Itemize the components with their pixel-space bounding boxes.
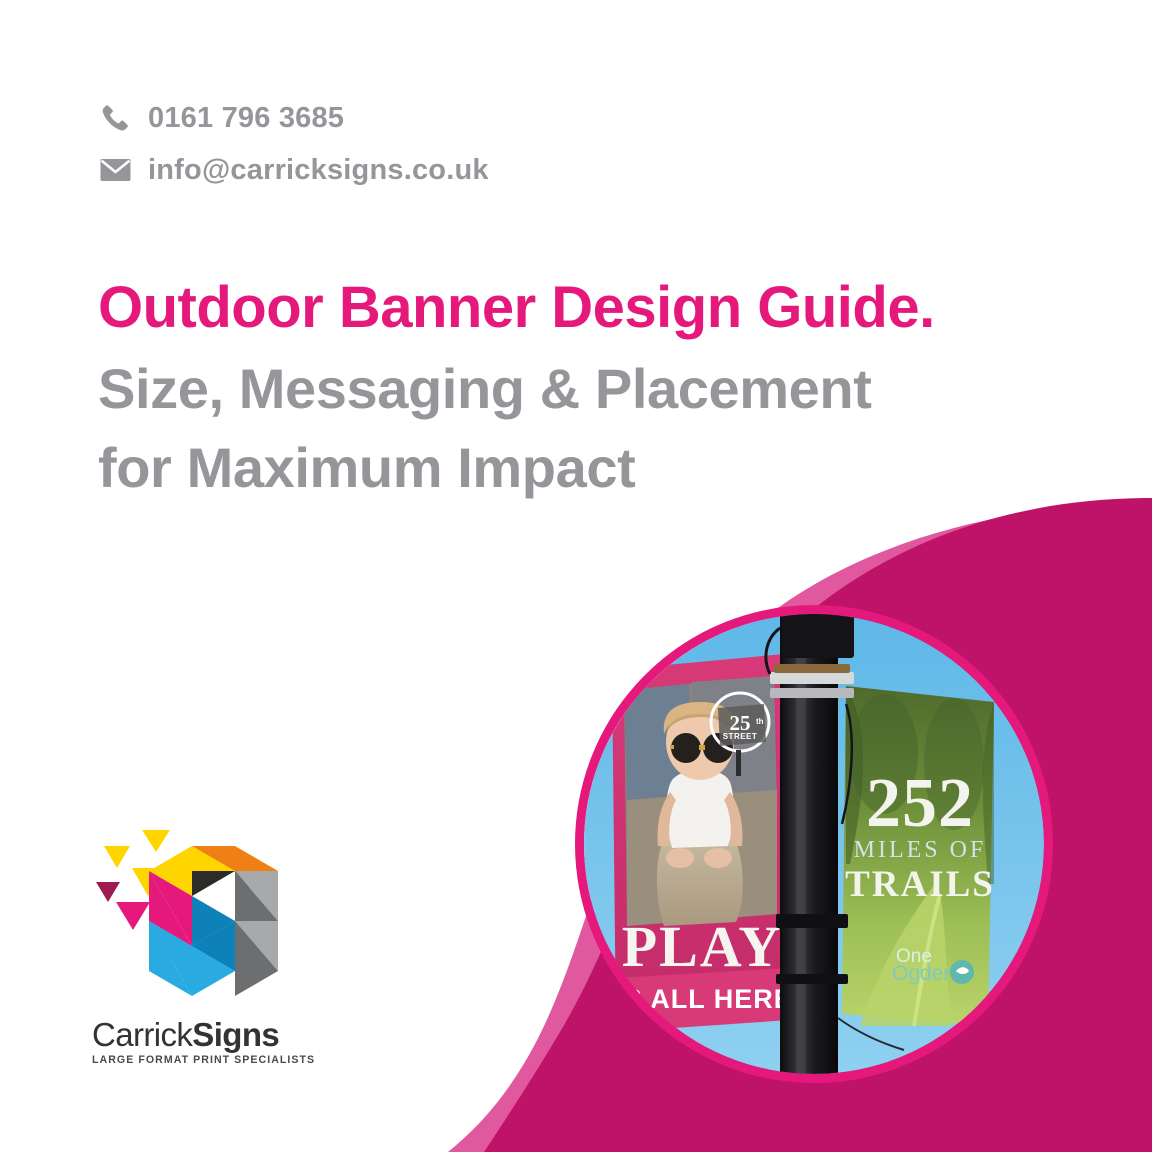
- brand-logo[interactable]: CarrickSigns LARGE FORMAT PRINT SPECIALI…: [92, 824, 322, 1066]
- banner-word-is-all-here: IS ALL HERE: [615, 984, 793, 1014]
- page-title: Outdoor Banner Design Guide.: [98, 276, 1098, 341]
- banner-text-miles-of: MILES OF: [854, 837, 987, 863]
- svg-text:th: th: [756, 717, 764, 726]
- svg-text:STREET: STREET: [723, 732, 758, 741]
- poster-canvas: 0161 796 3685 info@carricksigns.co.uk Ou…: [0, 0, 1152, 1152]
- contact-block: 0161 796 3685 info@carricksigns.co.uk: [98, 92, 489, 196]
- logo-name-part-2: Signs: [192, 1016, 279, 1053]
- contact-row-phone[interactable]: 0161 796 3685: [98, 92, 489, 144]
- subtitle-line-1: Size, Messaging & Placement: [98, 349, 1098, 429]
- lamppost-banner-photo: 25 th STREET PLAY IS ALL HERE: [575, 605, 1053, 1083]
- phone-icon: [98, 101, 132, 135]
- banner-number-252: 252: [866, 765, 974, 842]
- left-banner: 25 th STREET PLAY IS ALL HERE: [612, 654, 793, 1032]
- logo-tagline: LARGE FORMAT PRINT SPECIALISTS: [92, 1054, 302, 1066]
- contact-row-email[interactable]: info@carricksigns.co.uk: [98, 144, 489, 196]
- photo-inner: 25 th STREET PLAY IS ALL HERE: [584, 614, 1044, 1074]
- right-banner: 252 MILES OF TRAILS One Ogden: [842, 686, 995, 1026]
- banner-text-trails: TRAILS: [845, 864, 995, 905]
- banner-word-play: PLAY: [622, 914, 783, 979]
- phone-number-text: 0161 796 3685: [148, 102, 344, 135]
- logo-name-part-1: Carrick: [92, 1016, 192, 1053]
- email-address-text: info@carricksigns.co.uk: [148, 154, 489, 187]
- envelope-icon: [98, 153, 132, 187]
- headline-block: Outdoor Banner Design Guide. Size, Messa…: [98, 276, 1098, 508]
- one-ogden-word-ogden: Ogden: [892, 962, 955, 985]
- subtitle-line-2: for Maximum Impact: [98, 428, 1098, 508]
- page-subtitle: Size, Messaging & Placement for Maximum …: [98, 349, 1098, 508]
- logo-wordmark: CarrickSigns LARGE FORMAT PRINT SPECIALI…: [92, 1018, 302, 1066]
- logo-company-name: CarrickSigns: [92, 1018, 302, 1051]
- carrick-cube-logo-icon: [92, 824, 292, 1014]
